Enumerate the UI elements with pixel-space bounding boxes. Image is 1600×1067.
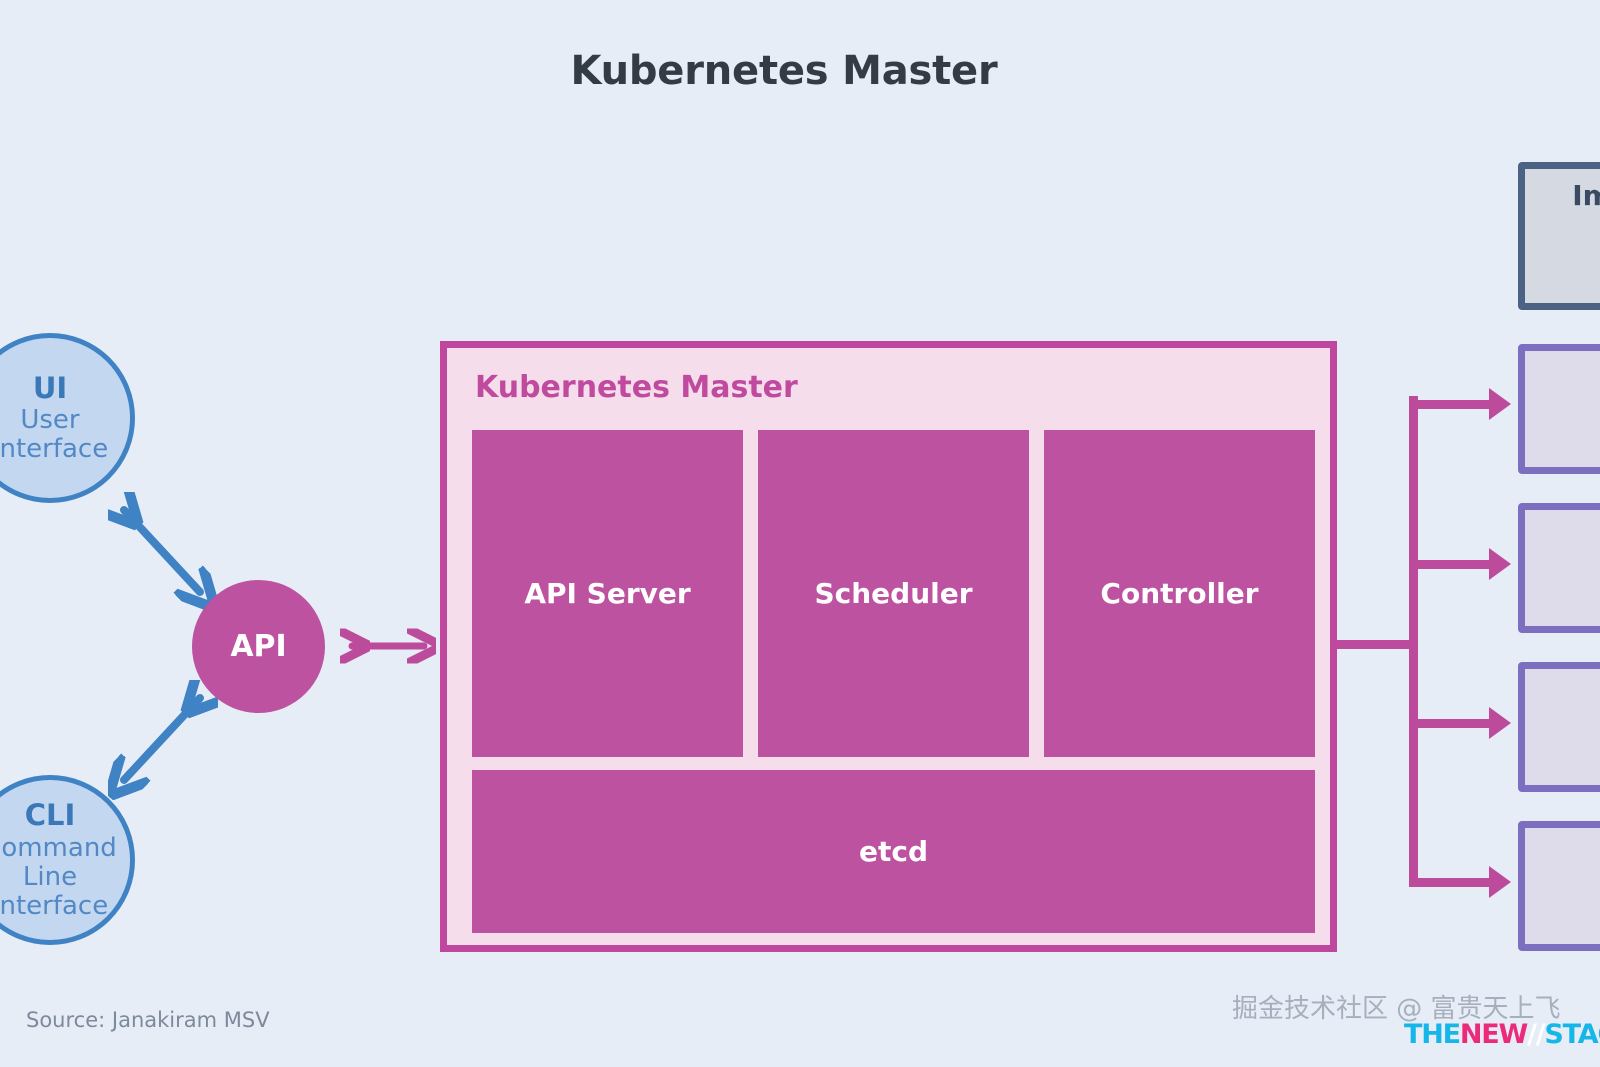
node-box-1	[1518, 344, 1600, 474]
component-scheduler: Scheduler	[758, 430, 1029, 757]
node-box-3	[1518, 662, 1600, 792]
component-api-server: API Server	[472, 430, 743, 757]
arrowhead-node-1-icon	[1489, 388, 1511, 420]
component-etcd-label: etcd	[859, 835, 928, 868]
logo-part-slash: //	[1527, 1019, 1544, 1050]
logo-part-stack: STACK	[1544, 1019, 1600, 1050]
the-new-stack-logo: THENEW//STACK	[1404, 1019, 1600, 1050]
master-to-nodes-trunk-vertical	[1409, 396, 1418, 886]
branch-line-node-3	[1409, 719, 1494, 728]
image-registry-box: Im	[1518, 162, 1600, 310]
kubernetes-master-label: Kubernetes Master	[475, 370, 798, 405]
ui-abbr-label: UI	[33, 372, 67, 404]
branch-line-node-4	[1409, 878, 1494, 887]
arrowhead-node-4-icon	[1489, 866, 1511, 898]
component-etcd: etcd	[472, 770, 1315, 933]
page-title: Kubernetes Master	[0, 48, 1568, 94]
cli-abbr-label: CLI	[25, 799, 76, 831]
arrowhead-node-2-icon	[1489, 548, 1511, 580]
kubernetes-master-box: Kubernetes Master API Server Scheduler C…	[440, 341, 1337, 952]
node-box-2	[1518, 503, 1600, 633]
cli-description-label: Command Line Interface	[0, 834, 130, 921]
branch-line-node-1	[1409, 400, 1494, 409]
branch-line-node-2	[1409, 560, 1494, 569]
source-credit: Source: Janakiram MSV	[26, 1008, 270, 1032]
cli-circle: CLI Command Line Interface	[0, 775, 135, 945]
ui-to-api-double-arrow-icon	[108, 492, 218, 612]
logo-part-the: THE	[1404, 1019, 1460, 1050]
master-to-nodes-trunk-stem	[1337, 640, 1417, 649]
component-controller: Controller	[1044, 430, 1315, 757]
api-to-master-double-arrow-icon	[340, 628, 436, 664]
diagram-canvas: Kubernetes Master UI User Interface CLI …	[0, 0, 1600, 1067]
api-circle: API	[192, 580, 325, 713]
ui-circle: UI User Interface	[0, 333, 135, 503]
node-box-4	[1518, 821, 1600, 951]
component-controller-label: Controller	[1100, 577, 1258, 610]
api-label: API	[230, 629, 286, 664]
logo-part-new: NEW	[1460, 1019, 1527, 1050]
component-scheduler-label: Scheduler	[814, 577, 972, 610]
arrowhead-node-3-icon	[1489, 707, 1511, 739]
ui-description-label: User Interface	[0, 406, 130, 464]
image-registry-label: Im	[1572, 179, 1600, 212]
cli-to-api-double-arrow-icon	[108, 680, 218, 800]
component-api-server-label: API Server	[524, 577, 690, 610]
